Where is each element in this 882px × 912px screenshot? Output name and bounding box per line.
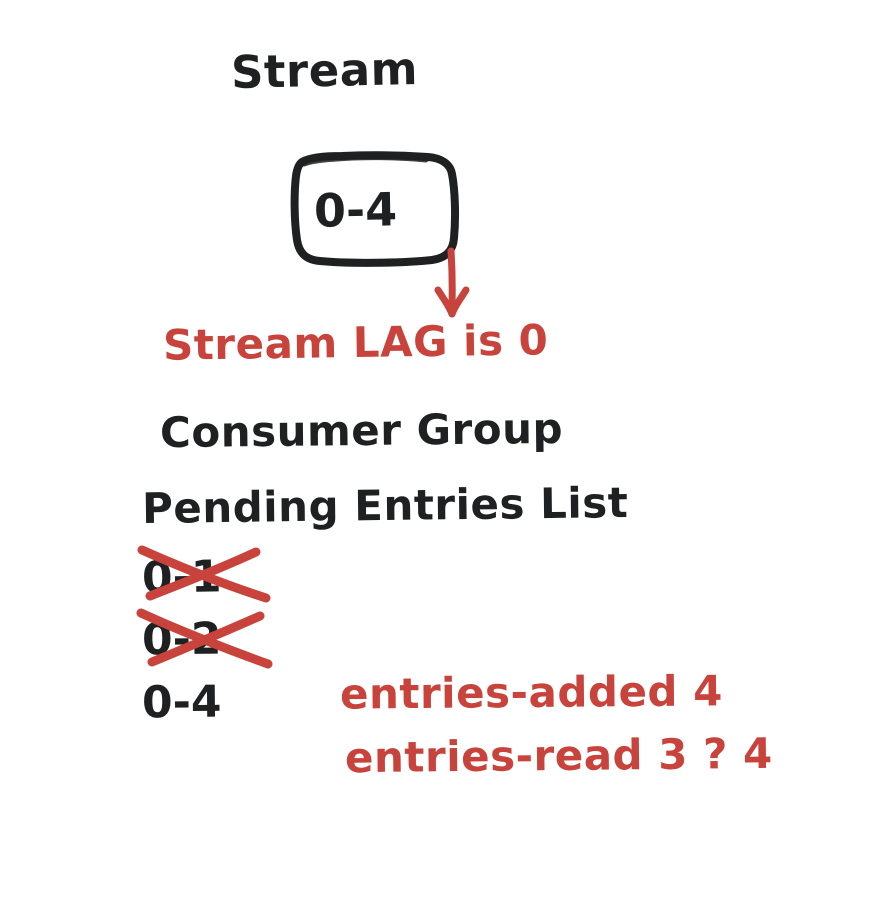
pending-entry-row: 0-1: [142, 552, 362, 610]
diagram-canvas: Stream 0-4 Stream LAG is 0 Consumer Grou…: [0, 0, 882, 912]
consumer-group-title: Consumer Group: [160, 408, 563, 454]
entries-added-stat: entries-added 4: [340, 670, 723, 715]
pending-entry-id: 0-2: [142, 614, 222, 666]
pending-entries-list-title: Pending Entries List: [142, 482, 629, 530]
stream-title: Stream: [231, 46, 419, 95]
pending-entry-id: 0-4: [142, 677, 222, 729]
stream-lag-annotation: Stream LAG is 0: [163, 319, 549, 366]
pending-entry-id: 0-1: [142, 551, 222, 603]
stream-entry-box: 0-4: [288, 158, 448, 254]
pending-entry-row: 0-2: [142, 614, 362, 672]
pending-entry-row: 0-4: [142, 677, 362, 735]
down-arrow-icon: [424, 248, 484, 324]
stream-entry-id: 0-4: [314, 182, 398, 237]
entries-read-stat: entries-read 3 ? 4: [345, 733, 773, 779]
